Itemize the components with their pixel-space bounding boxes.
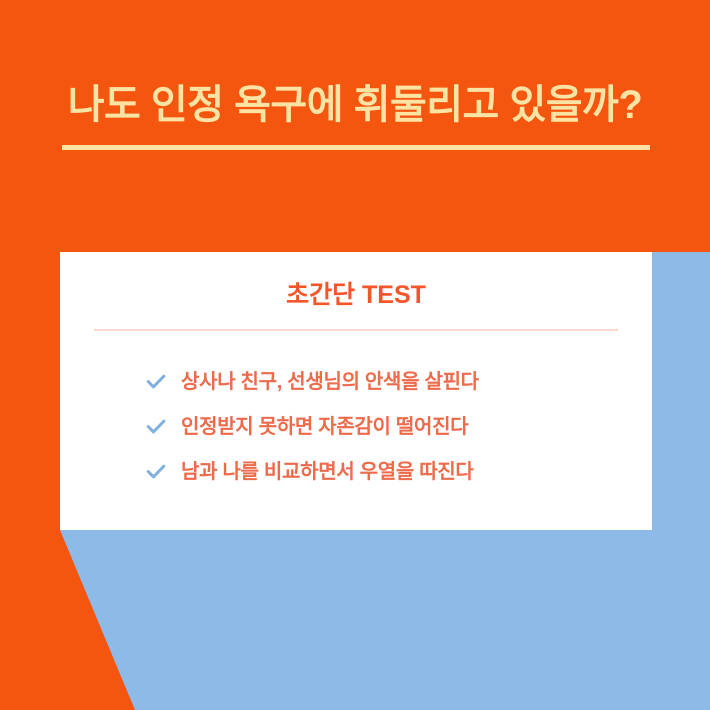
list-item[interactable]: 상사나 친구, 선생님의 안색을 살핀다	[60, 359, 652, 404]
list-item[interactable]: 인정받지 못하면 자존감이 떨어진다	[60, 404, 652, 449]
list-item-label: 상사나 친구, 선생님의 안색을 살핀다	[181, 369, 479, 395]
check-icon	[145, 416, 167, 438]
check-icon	[145, 461, 167, 483]
list-item[interactable]: 남과 나를 비교하면서 우열을 따진다	[60, 449, 652, 494]
checklist: 상사나 친구, 선생님의 안색을 살핀다 인정받지 못하면 자존감이 떨어진다 …	[60, 331, 652, 494]
headline: 나도 인정 욕구에 휘둘리고 있을까?	[0, 78, 710, 132]
headline-text: 나도 인정 욕구에 휘둘리고 있을까?	[0, 78, 710, 132]
check-icon	[145, 371, 167, 393]
list-item-label: 인정받지 못하면 자존감이 떨어진다	[181, 414, 468, 440]
card-graphic: 나도 인정 욕구에 휘둘리고 있을까? 초간단 TEST 상사나 친구, 선생님…	[0, 0, 710, 710]
test-card: 초간단 TEST 상사나 친구, 선생님의 안색을 살핀다 인정받지 못하면 자…	[60, 252, 652, 530]
headline-underline	[62, 145, 650, 150]
list-item-label: 남과 나를 비교하면서 우열을 따진다	[181, 459, 474, 485]
card-title: 초간단 TEST	[60, 278, 652, 312]
